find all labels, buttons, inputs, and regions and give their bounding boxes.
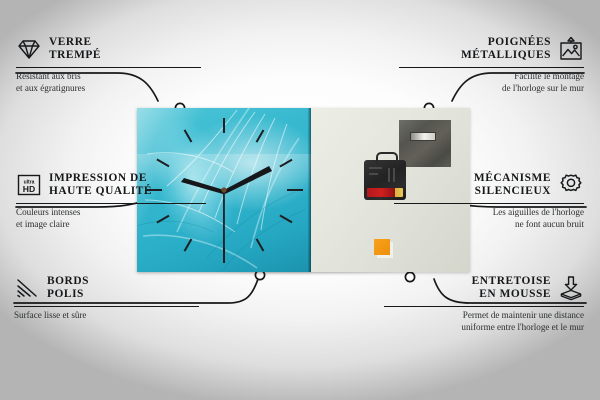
hanger-slot: [410, 132, 436, 141]
infographic-canvas: VERRE TREMPÉ Résistant aux bris et aux é…: [0, 0, 600, 400]
feature-poignees-metalliques: POIGNÉES MÉTALLIQUES Facilite le montage…: [399, 36, 584, 94]
ultra-hd-icon: ultra HD: [16, 172, 42, 198]
feature-title: ENTRETOISE EN MOUSSE: [472, 275, 551, 302]
movement-detail-c: [388, 168, 390, 182]
feature-entretoise-en-mousse: ENTRETOISE EN MOUSSE Permet de maintenir…: [384, 275, 584, 333]
divider: [394, 203, 584, 205]
feature-subtitle: Couleurs intenses et image claire: [16, 207, 206, 229]
metal-hanger-plate: [399, 120, 451, 167]
feature-subtitle: Facilite le montage de l'horloge sur le …: [399, 71, 584, 93]
polished-edge-icon: [14, 275, 40, 301]
feature-impression-haute-qualite: ultra HD IMPRESSION DE HAUTE QUALITÉ Cou…: [16, 172, 206, 230]
feature-bords-polis: BORDS POLIS Surface lisse et sûre: [14, 275, 199, 322]
feature-title: IMPRESSION DE HAUTE QUALITÉ: [49, 172, 152, 199]
hand-hub: [221, 187, 226, 192]
picture-frame-hook-icon: [558, 36, 584, 62]
divider: [16, 67, 201, 69]
second-hand: [223, 190, 225, 252]
gear-icon: [558, 172, 584, 198]
orange-foam-spacer: [374, 239, 390, 255]
feature-subtitle: Permet de maintenir une distance uniform…: [384, 310, 584, 332]
foam-spacer-arrow-icon: [558, 275, 584, 301]
minute-hand: [224, 166, 272, 194]
divider: [14, 306, 199, 308]
feature-subtitle: Résistant aux bris et aux égratignures: [16, 71, 201, 93]
feature-mecanisme-silencieux: MÉCANISME SILENCIEUX Les aiguilles de l'…: [394, 172, 584, 230]
divider: [16, 203, 206, 205]
divider: [399, 67, 584, 69]
feature-title: MÉCANISME SILENCIEUX: [474, 172, 551, 199]
feature-title: BORDS POLIS: [47, 275, 89, 302]
feature-title: VERRE TREMPÉ: [49, 36, 101, 63]
hd-label: HD: [23, 184, 35, 194]
movement-detail-a: [369, 167, 382, 169]
diamond-icon: [16, 36, 42, 62]
feature-subtitle: Les aiguilles de l'horloge ne font aucun…: [394, 207, 584, 229]
movement-detail-b: [369, 173, 378, 175]
hanger-loop: [376, 152, 398, 164]
divider: [384, 306, 584, 308]
feature-subtitle: Surface lisse et sûre: [14, 310, 199, 321]
feature-title: POIGNÉES MÉTALLIQUES: [461, 36, 551, 63]
feature-verre-trempe: VERRE TREMPÉ Résistant aux bris et aux é…: [16, 36, 201, 94]
